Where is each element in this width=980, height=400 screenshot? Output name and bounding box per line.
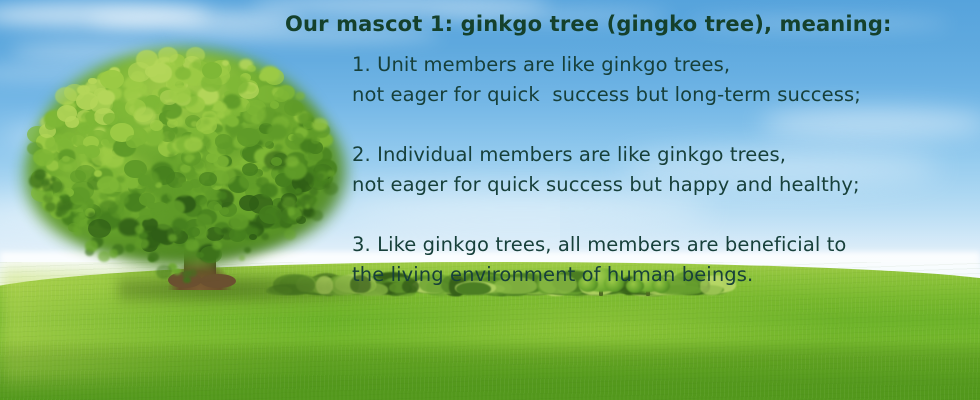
foliage-clump — [215, 134, 233, 149]
foliage-clump — [58, 157, 77, 172]
tree-root — [200, 274, 236, 288]
foliage-clump — [267, 124, 286, 140]
foliage-wisp — [309, 187, 318, 195]
paragraph-2-line-2: not eager for quick success but happy an… — [352, 173, 860, 196]
foliage-wisp — [46, 192, 52, 197]
foliage-clump — [295, 188, 302, 194]
page-title: Our mascot 1: ginkgo tree (gingko tree),… — [285, 12, 892, 36]
foliage-clump — [201, 74, 222, 92]
foliage-wisp — [276, 209, 288, 220]
foliage-clump — [191, 158, 205, 170]
foliage-clump — [274, 90, 289, 102]
foliage-clump — [175, 67, 191, 80]
foliage-wisp — [327, 170, 335, 177]
foliage-clump — [139, 208, 154, 220]
foliage-wisp — [239, 255, 245, 261]
paragraph-3: 3. Like ginkgo trees, all members are be… — [352, 230, 952, 290]
foliage-clump — [125, 244, 135, 252]
paragraph-2-line-1: 2. Individual members are like ginkgo tr… — [352, 143, 786, 166]
foliage-clump — [103, 113, 118, 126]
foliage-clump — [148, 63, 172, 83]
foliage-clump — [77, 122, 92, 134]
foliage-clump — [139, 170, 160, 187]
foliage-clump — [76, 92, 98, 110]
paragraph-2: 2. Individual members are like ginkgo tr… — [352, 140, 952, 200]
foliage-clump — [206, 153, 218, 163]
foliage-clump — [221, 228, 228, 234]
foliage-wisp — [168, 234, 177, 242]
foliage-clump — [295, 92, 305, 101]
foliage-wisp — [156, 265, 172, 279]
foliage-clump — [312, 118, 328, 131]
paragraph-1: 1. Unit members are like ginkgo trees, n… — [352, 50, 952, 110]
foliage-wisp — [88, 212, 95, 219]
foliage-clump — [158, 47, 178, 63]
foliage-clump — [274, 144, 283, 152]
foliage-clump — [37, 159, 46, 166]
foliage-wisp — [109, 249, 118, 257]
paragraph-3-line-2: the living environment of human beings. — [352, 263, 753, 286]
foliage-wisp — [311, 210, 323, 221]
foliage-clump — [135, 238, 148, 249]
foliage-clump — [126, 135, 142, 148]
foliage-wisp — [58, 205, 69, 215]
foliage-clump — [99, 200, 118, 216]
ginkgo-tree-illustration — [0, 0, 360, 300]
foliage-clump — [188, 227, 200, 237]
foliage-wisp — [85, 240, 98, 252]
foliage-wisp — [316, 173, 324, 180]
foliage-clump — [271, 157, 282, 166]
mascot-banner: Our mascot 1: ginkgo tree (gingko tree),… — [0, 0, 980, 400]
foliage-clump — [247, 85, 256, 93]
foliage-clump — [168, 153, 176, 160]
foliage-wisp — [73, 228, 82, 236]
foliage-clump — [256, 177, 269, 188]
paragraph-1-line-1: 1. Unit members are like ginkgo trees, — [352, 53, 730, 76]
foliage-wisp — [173, 268, 181, 275]
paragraph-1-line-2: not eager for quick success but long-ter… — [352, 83, 861, 106]
foliage-clump — [222, 60, 229, 66]
mascot-description: 1. Unit members are like ginkgo trees, n… — [352, 50, 952, 290]
paragraph-3-line-1: 3. Like ginkgo trees, all members are be… — [352, 233, 846, 256]
foliage-clump — [220, 207, 229, 215]
foliage-clump — [115, 193, 129, 204]
foliage-clump — [134, 107, 156, 125]
foliage-clump — [291, 133, 305, 144]
foliage-wisp — [135, 225, 145, 234]
foliage-wisp — [185, 239, 198, 251]
foliage-clump — [84, 145, 100, 158]
foliage-clump — [100, 70, 124, 89]
foliage-wisp — [72, 202, 87, 216]
foliage-wisp — [98, 251, 110, 262]
tree-canopy — [0, 0, 360, 250]
foliage-clump — [259, 73, 269, 81]
foliage-clump — [94, 170, 102, 177]
foliage-clump — [298, 112, 314, 125]
foliage-clump — [145, 130, 164, 146]
